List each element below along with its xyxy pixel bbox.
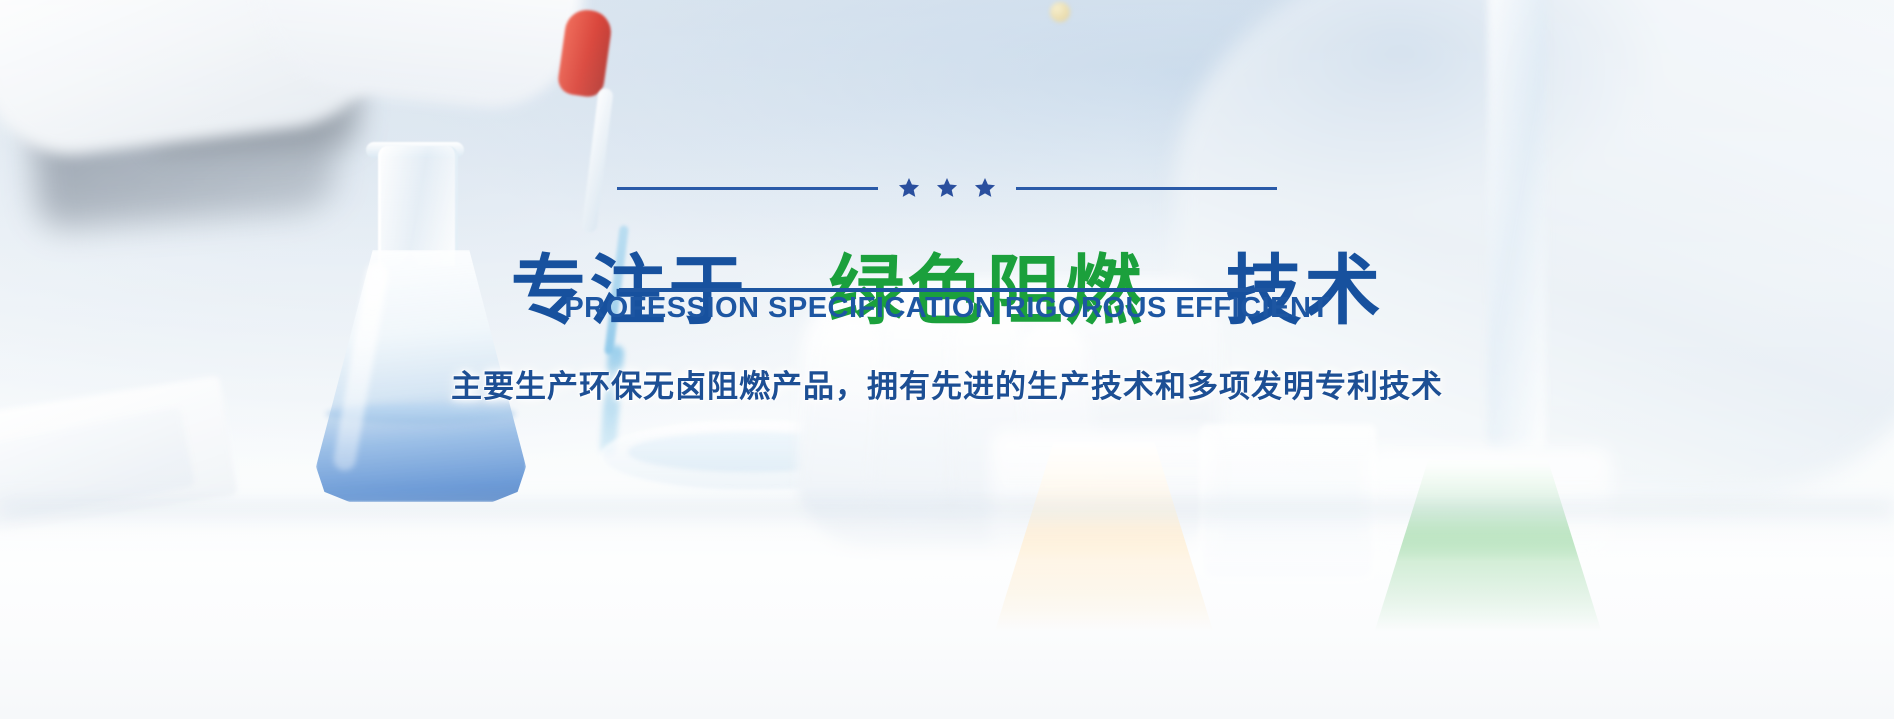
banner-content: 专注于 绿色阻燃 技术 PROFESSION SPECIFICATION RIG… — [0, 0, 1894, 719]
star-group — [898, 178, 996, 199]
subtitle-english: PROFESSION SPECIFICATION RIGOROUS EFFICI… — [564, 292, 1329, 325]
star-icon — [936, 178, 958, 199]
divider-rule-right — [1016, 187, 1277, 190]
divider-rule-left — [617, 187, 878, 190]
star-icon — [898, 178, 920, 199]
star-icon — [974, 178, 996, 199]
hero-banner: 专注于 绿色阻燃 技术 PROFESSION SPECIFICATION RIG… — [0, 0, 1894, 719]
tagline: 主要生产环保无卤阻燃产品，拥有先进的生产技术和多项发明专利技术 — [451, 361, 1443, 406]
decorative-divider — [617, 178, 1277, 199]
